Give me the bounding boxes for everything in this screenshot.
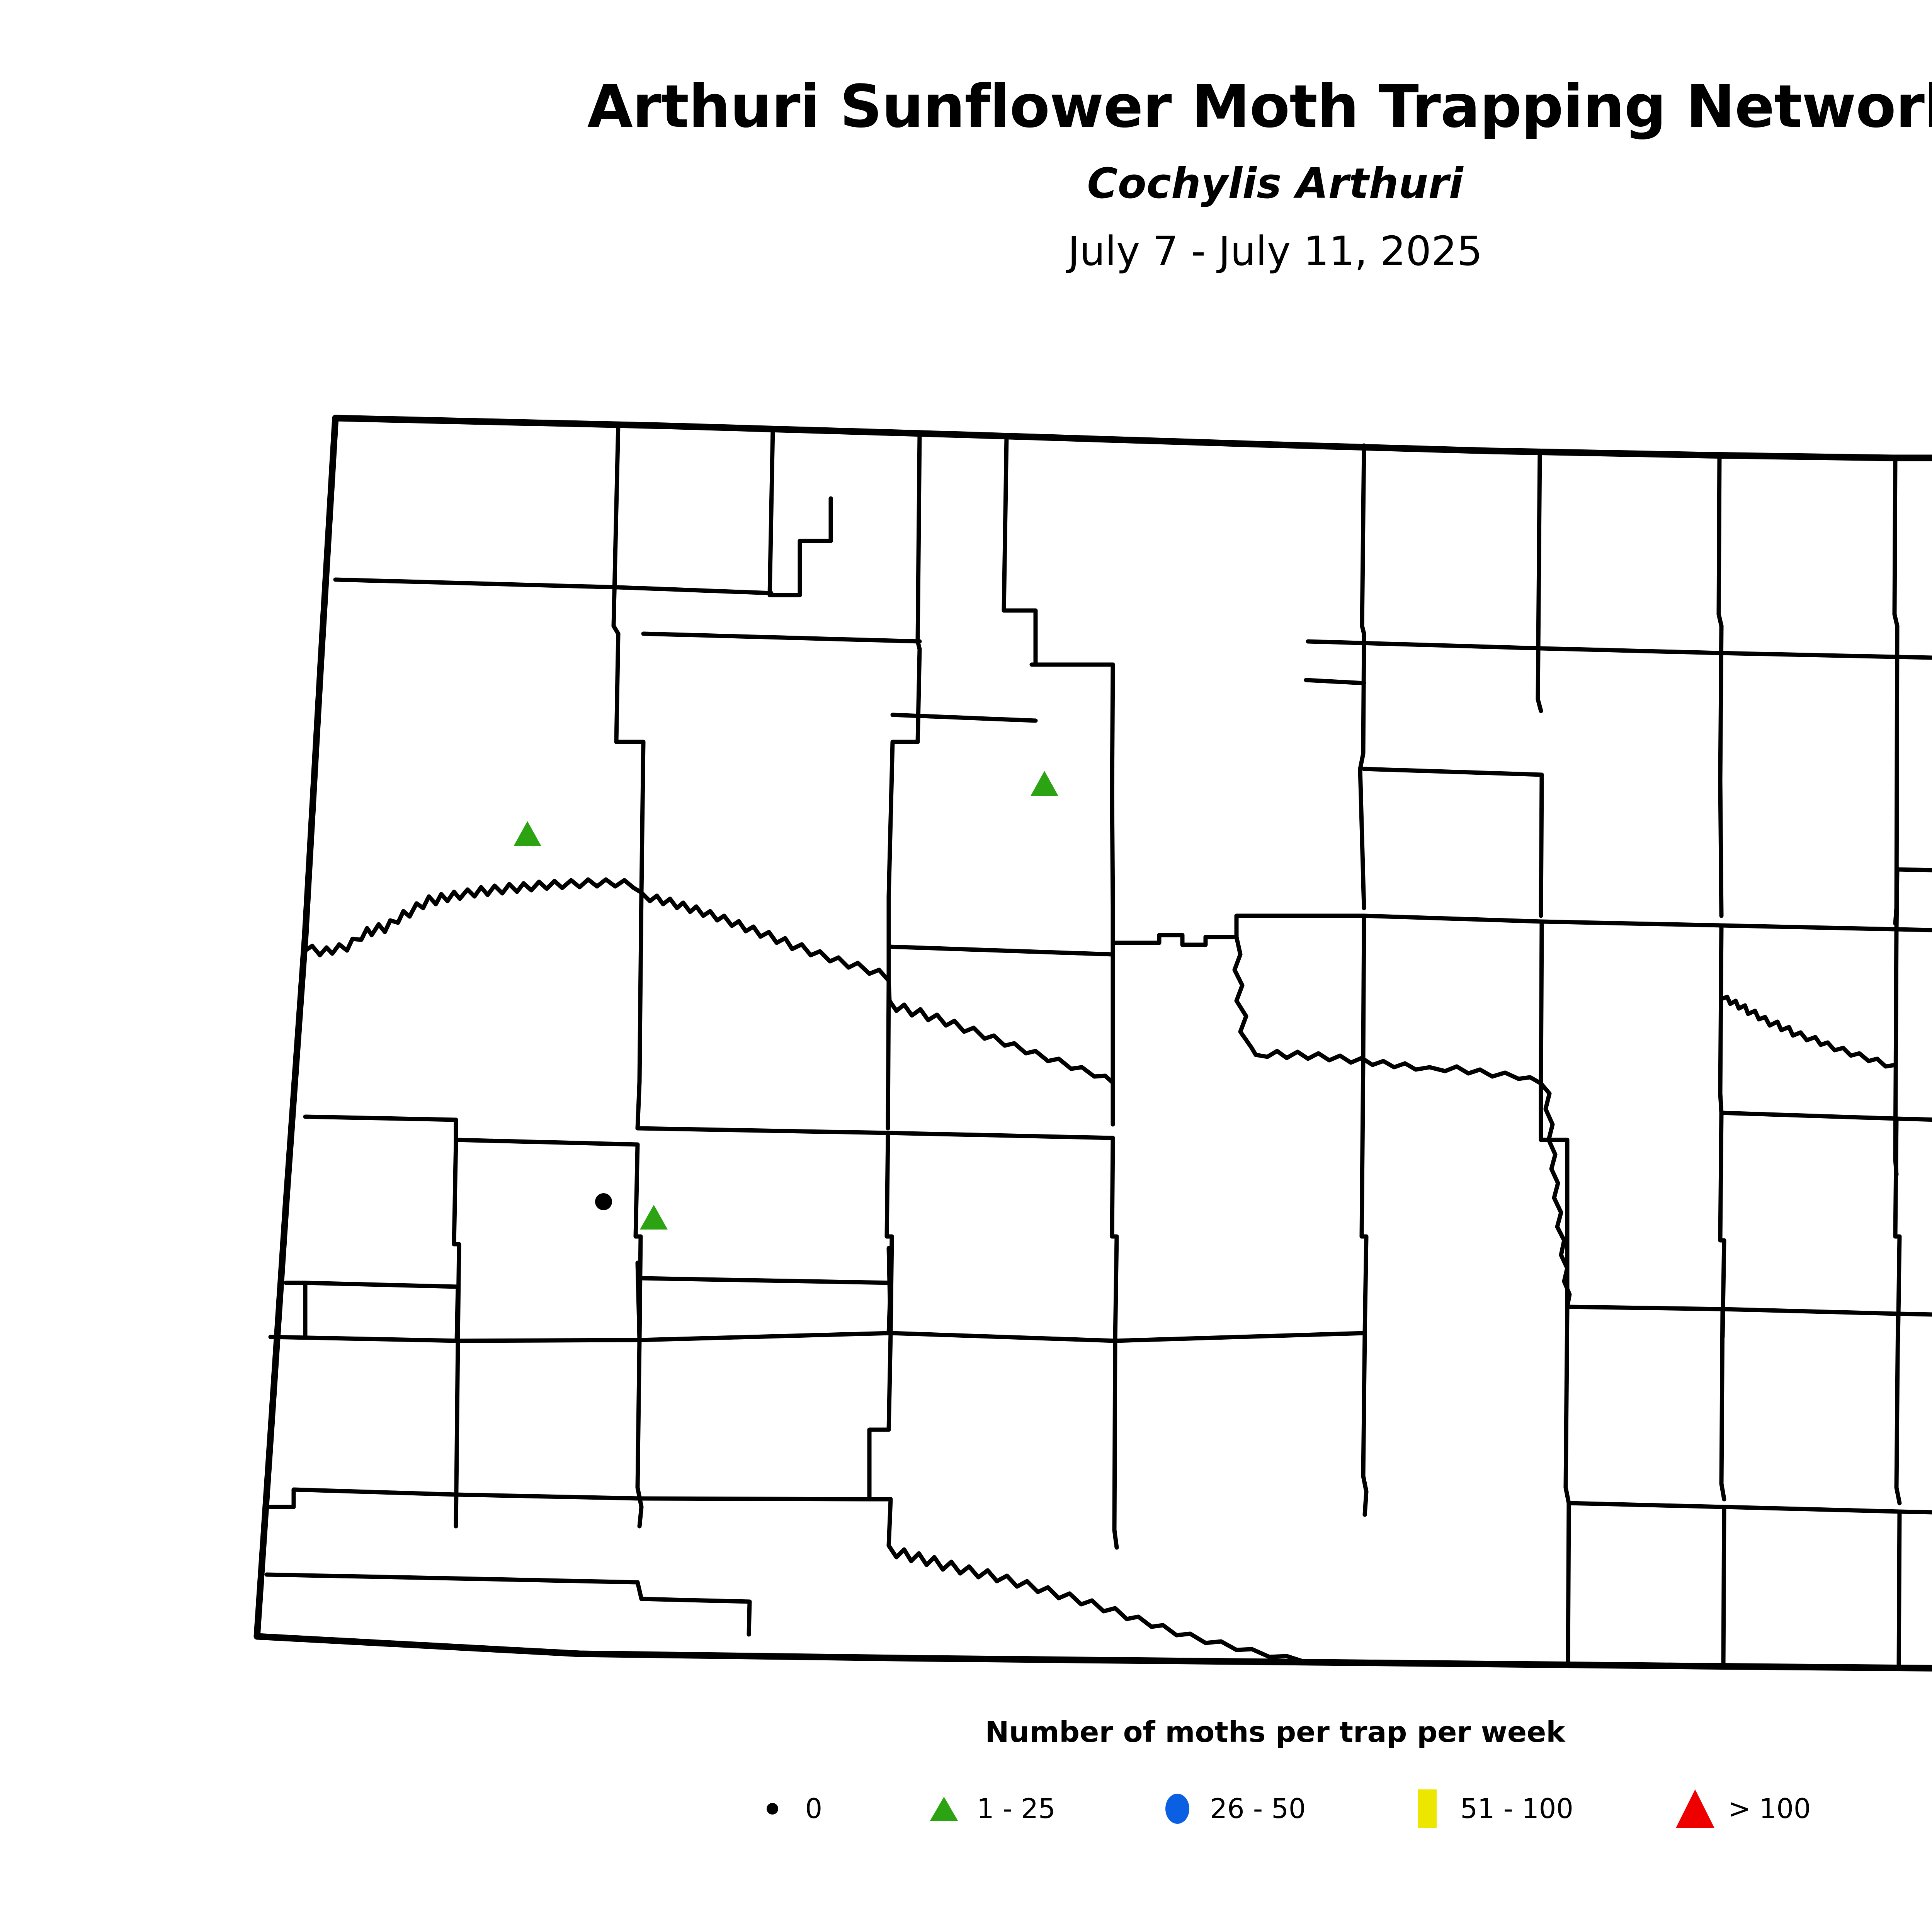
county-divider <box>1541 922 1542 1083</box>
county-divider <box>1541 775 1542 916</box>
legend-triangle-green-icon <box>911 1797 977 1821</box>
county-divider <box>458 1340 639 1341</box>
legend-item-zero[interactable]: 0 <box>740 1793 912 1825</box>
state-outline <box>257 418 1932 1673</box>
legend-label-26-50: 26 - 50 <box>1210 1793 1395 1825</box>
county-divider <box>749 1602 750 1634</box>
map-page: Arthuri Sunflower Moth Trapping Network … <box>0 0 1932 1932</box>
date-range: July 7 - July 11, 2025 <box>0 231 1932 271</box>
marker-dot-black[interactable] <box>595 1193 612 1210</box>
county-divider <box>889 1283 891 1333</box>
north-dakota-map <box>0 394 1932 1708</box>
county-divider <box>456 1341 458 1526</box>
legend-items: 0 1 - 25 26 - 50 51 - 100 <box>0 1789 1932 1828</box>
county-divider <box>1720 925 1721 1113</box>
county-divider <box>638 1263 639 1340</box>
legend-item-26-50[interactable]: 26 - 50 <box>1145 1793 1395 1825</box>
legend-item-1-25[interactable]: 1 - 25 <box>911 1793 1144 1825</box>
county-divider <box>1899 1512 1900 1668</box>
legend-label-over-100: > 100 <box>1728 1793 1811 1825</box>
title-block: Arthuri Sunflower Moth Trapping Network … <box>0 0 1932 271</box>
county-divider <box>1114 1341 1117 1548</box>
legend-dot-icon <box>740 1803 805 1815</box>
legend-circle-blue-icon <box>1145 1794 1210 1824</box>
legend-item-51-100[interactable]: 51 - 100 <box>1395 1789 1662 1828</box>
county-divider <box>1720 626 1721 916</box>
county-divider <box>457 1287 458 1341</box>
county-boundaries <box>257 418 1932 1673</box>
county-divider <box>1363 1333 1366 1515</box>
legend-item-over-100[interactable]: > 100 <box>1662 1789 1811 1828</box>
county-divider <box>1112 665 1113 908</box>
county-divider <box>1568 1503 1569 1665</box>
species-name: Cochylis Arthuri <box>0 163 1932 205</box>
county-divider <box>888 981 889 1128</box>
legend-triangle-red-icon <box>1662 1789 1728 1828</box>
legend-label-51-100: 51 - 100 <box>1460 1793 1662 1825</box>
legend-square-yellow-icon <box>1395 1789 1460 1828</box>
legend: Number of moths per trap per week 0 1 - … <box>0 1716 1932 1828</box>
county-divider <box>1723 1507 1724 1666</box>
county-divider <box>1362 446 1364 634</box>
county-divider <box>1896 869 1897 929</box>
county-divider <box>918 434 920 649</box>
county-divider <box>1363 916 1364 1059</box>
legend-title: Number of moths per trap per week <box>0 1716 1932 1749</box>
legend-label-1-25: 1 - 25 <box>977 1793 1144 1825</box>
map-svg <box>0 394 1932 1708</box>
page-title: Arthuri Sunflower Moth Trapping Network <box>0 77 1932 136</box>
legend-label-zero: 0 <box>805 1793 912 1825</box>
